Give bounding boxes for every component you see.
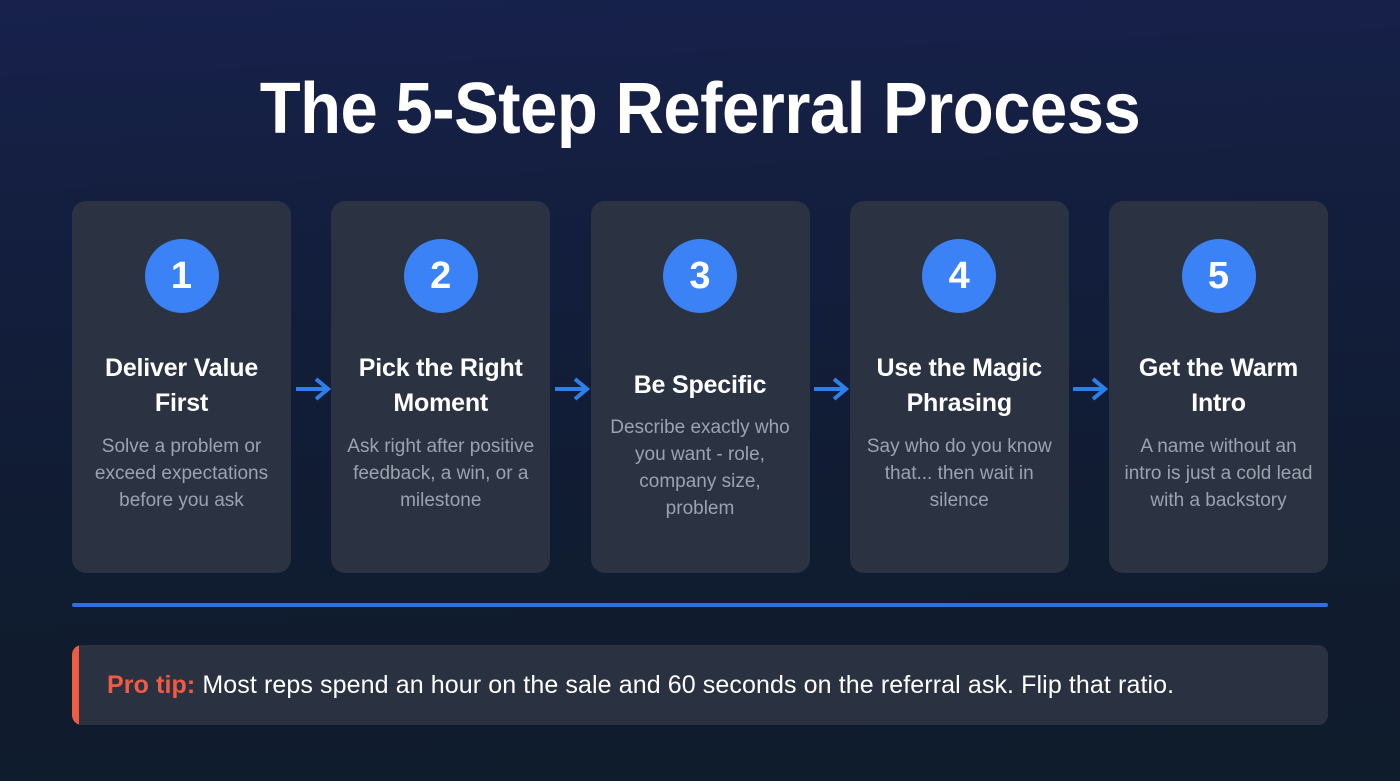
step-card-3: 3 Be Specific Describe exactly who you w… [591,201,810,573]
step-card-1: 1 Deliver Value First Solve a problem or… [72,201,291,573]
step-title-4: Use the Magic Phrasing [864,351,1055,421]
step-title-5: Get the Warm Intro [1123,351,1314,421]
infographic-poster: The 5-Step Referral Process 1 Deliver Va… [0,0,1400,781]
arrow-right-icon [812,374,856,404]
pro-tip-banner: Pro tip: Most reps spend an hour on the … [72,645,1328,725]
pro-tip-text: Pro tip: Most reps spend an hour on the … [79,669,1174,701]
step-number-badge-4: 4 [922,239,996,313]
step-title-3: Be Specific [634,368,767,403]
step-number-badge-5: 5 [1182,239,1256,313]
step-title-1: Deliver Value First [86,351,277,421]
pro-tip-body: Most reps spend an hour on the sale and … [195,671,1174,699]
page-title: The 5-Step Referral Process [49,62,1351,156]
arrow-right-icon [553,374,597,404]
step-card-2: 2 Pick the Right Moment Ask right after … [331,201,550,573]
step-card-4: 4 Use the Magic Phrasing Say who do you … [850,201,1069,573]
step-description-3: Describe exactly who you want - role, co… [605,414,796,522]
step-number-badge-1: 1 [145,239,219,313]
arrow-right-icon [1071,374,1115,404]
pro-tip-accent-bar [72,645,79,725]
step-description-1: Solve a problem or exceed expectations b… [86,433,277,514]
step-description-4: Say who do you know that... then wait in… [864,433,1055,514]
step-number-badge-3: 3 [663,239,737,313]
pro-tip-label: Pro tip: [107,671,195,699]
step-description-5: A name without an intro is just a cold l… [1123,433,1314,514]
step-description-2: Ask right after positive feedback, a win… [345,433,536,514]
step-number-badge-2: 2 [404,239,478,313]
step-title-2: Pick the Right Moment [345,351,536,421]
steps-row: 1 Deliver Value First Solve a problem or… [72,201,1328,573]
arrow-right-icon [294,374,338,404]
step-card-5: 5 Get the Warm Intro A name without an i… [1109,201,1328,573]
section-divider [72,603,1328,607]
